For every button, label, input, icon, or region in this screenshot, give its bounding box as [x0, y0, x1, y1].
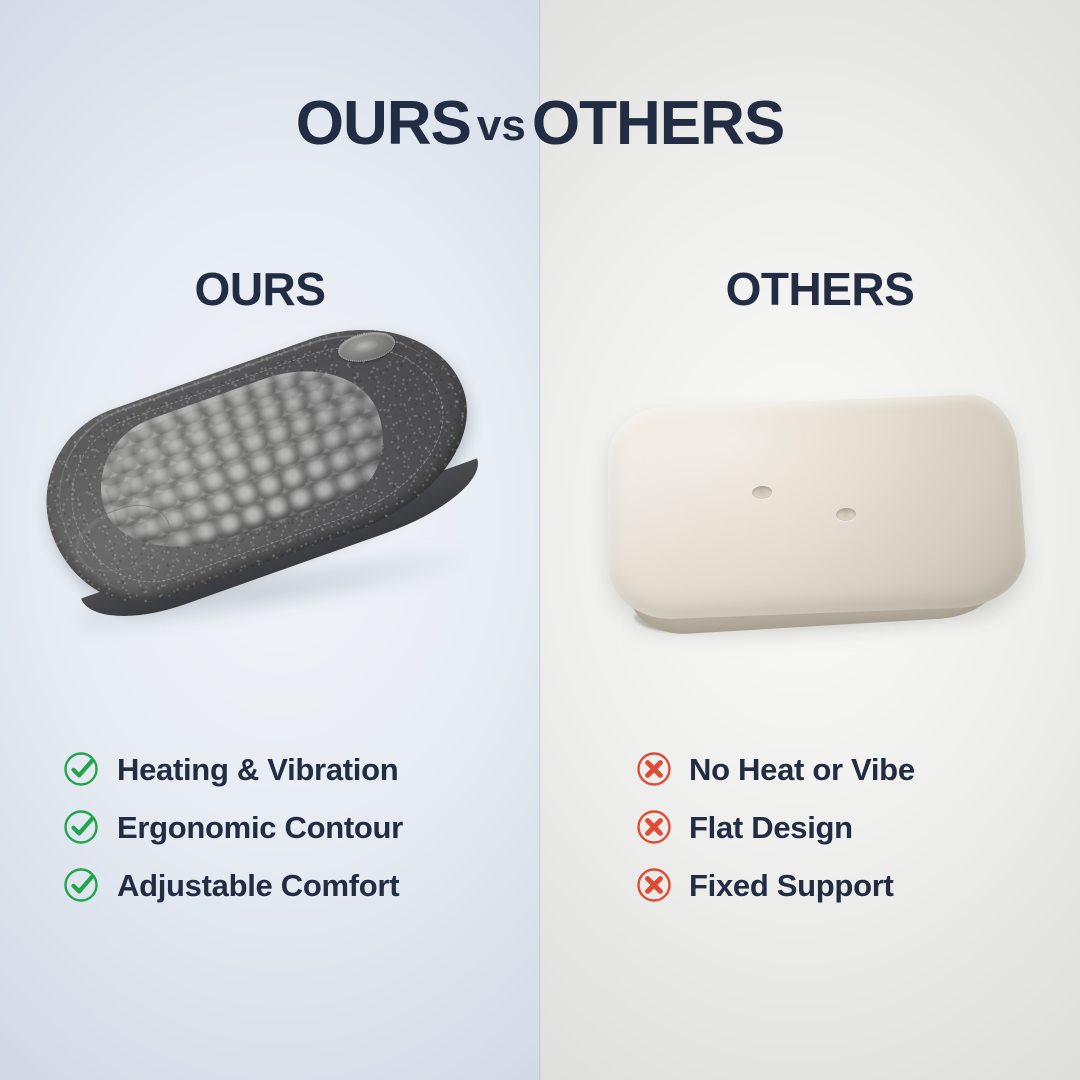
product-image-insole [40, 330, 510, 680]
page-title: OURSvsOTHERS [0, 93, 1080, 155]
feature-label: Flat Design [689, 812, 853, 843]
feature-list-ours: Heating & Vibration Ergonomic Contour Ad… [62, 740, 522, 914]
x-circle-icon [634, 865, 674, 905]
feature-label: Fixed Support [689, 870, 894, 901]
column-title-ours: OURS [60, 266, 460, 312]
feature-label: Adjustable Comfort [117, 870, 399, 901]
x-circle-icon [634, 807, 674, 847]
list-item: Heating & Vibration [62, 740, 522, 798]
pillow-top-face [608, 393, 1030, 621]
title-word-others: OTHERS [532, 89, 784, 158]
list-item: Flat Design [634, 798, 1034, 856]
check-circle-icon [62, 749, 102, 789]
title-word-ours: OURS [296, 89, 471, 158]
insole-body [19, 297, 516, 686]
x-circle-icon [634, 749, 674, 789]
check-circle-icon [62, 807, 102, 847]
pillow-body [608, 398, 1022, 634]
panel-divider [539, 0, 541, 1080]
list-item: No Heat or Vibe [634, 740, 1034, 798]
feature-list-others: No Heat or Vibe Flat Design Fixed Suppor… [634, 740, 1034, 914]
check-circle-icon [62, 865, 102, 905]
column-title-others: OTHERS [620, 266, 1020, 312]
feature-label: No Heat or Vibe [689, 754, 915, 785]
pillow-fabric-sheen [608, 393, 1030, 621]
product-image-pillow [600, 390, 1030, 680]
feature-label: Ergonomic Contour [117, 812, 403, 843]
title-connector-vs: vs [471, 101, 532, 150]
feature-label: Heating & Vibration [117, 754, 398, 785]
list-item: Ergonomic Contour [62, 798, 522, 856]
comparison-infographic: OURSvsOTHERS OURS OTHERS [0, 0, 1080, 1080]
list-item: Adjustable Comfort [62, 856, 522, 914]
list-item: Fixed Support [634, 856, 1034, 914]
